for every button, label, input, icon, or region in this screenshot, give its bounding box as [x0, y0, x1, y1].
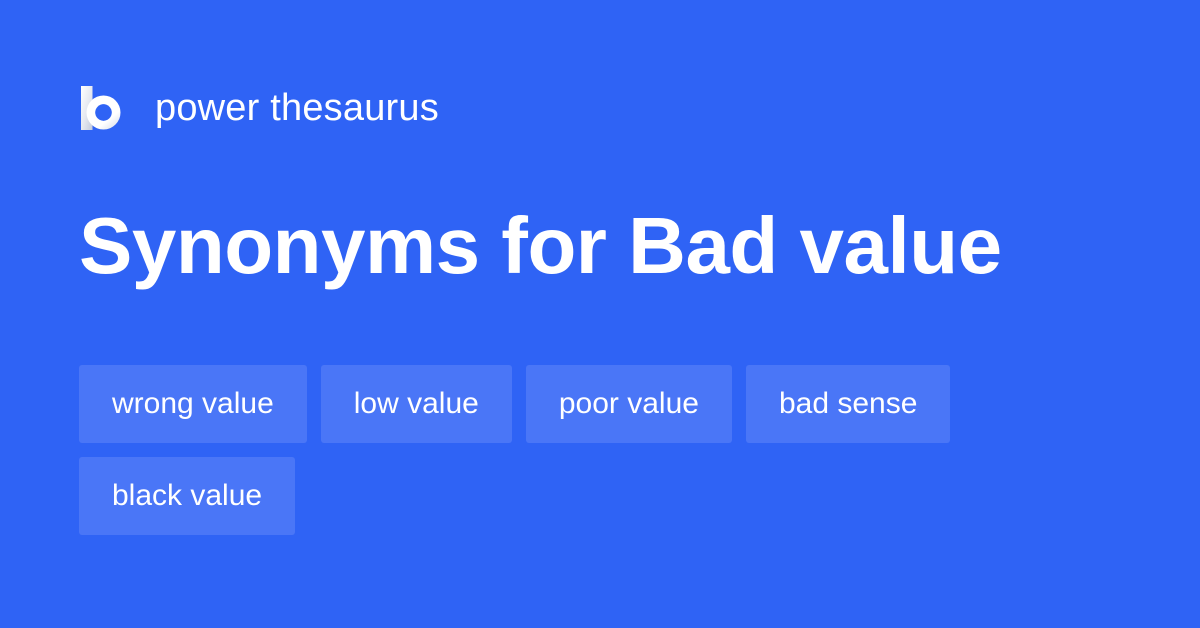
brand-name: power thesaurus — [155, 89, 439, 127]
synonym-chip[interactable]: poor value — [526, 365, 732, 443]
brand-header[interactable]: power thesaurus — [79, 82, 439, 134]
share-card: power thesaurus Synonyms for Bad value w… — [0, 0, 1200, 628]
synonym-chip-list: wrong value low value poor value bad sen… — [79, 365, 1139, 535]
synonym-chip[interactable]: low value — [321, 365, 512, 443]
page-title: Synonyms for Bad value — [79, 198, 1002, 294]
power-thesaurus-b-logo-icon — [79, 84, 123, 132]
synonym-chip[interactable]: bad sense — [746, 365, 950, 443]
synonym-chip[interactable]: black value — [79, 457, 295, 535]
synonym-chip[interactable]: wrong value — [79, 365, 307, 443]
